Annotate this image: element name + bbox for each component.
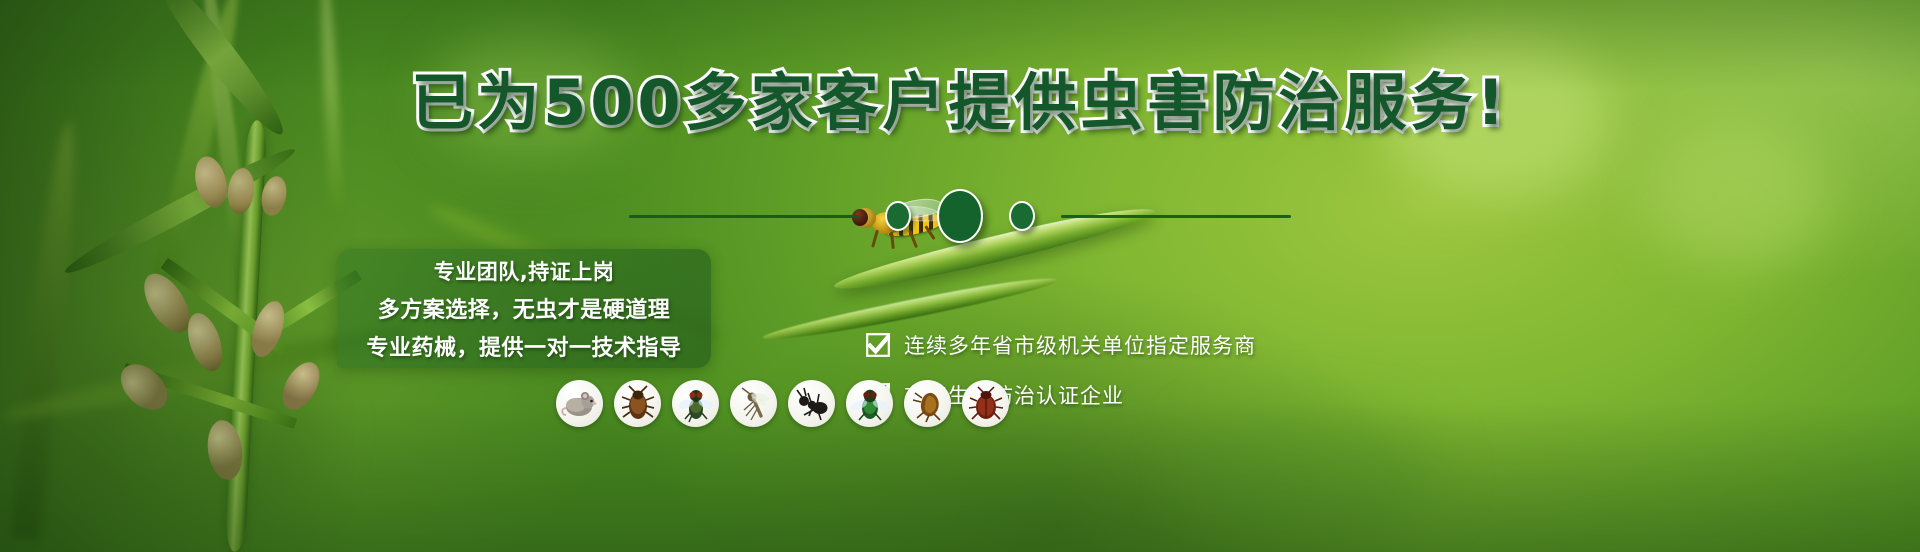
pest-icon-row: [556, 380, 1009, 427]
flea-icon[interactable]: [904, 380, 951, 427]
selling-point-line-2: 多方案选择，无虫才是硬道理: [378, 292, 671, 324]
divider-line-left: [629, 215, 859, 218]
bedbug-icon[interactable]: [962, 380, 1009, 427]
selling-point-line-3: 专业药械，提供一对一技术指导: [366, 330, 681, 362]
fly-icon[interactable]: [672, 380, 719, 427]
mosquito-icon[interactable]: [730, 380, 777, 427]
banner-headline: 已为500多家客户提供虫害防治服务!: [0, 72, 1920, 134]
divider-dot-large: [937, 189, 983, 243]
banner-headline-text: 已为500多家客户提供虫害防治服务!: [411, 66, 1509, 139]
selling-points-panel: 专业团队,持证上岗 多方案选择，无虫才是硬道理 专业药械，提供一对一技术指导: [337, 249, 711, 368]
rat-icon[interactable]: [556, 380, 603, 427]
headline-divider: [0, 196, 1920, 236]
ant-icon[interactable]: [788, 380, 835, 427]
blowfly-icon[interactable]: [846, 380, 893, 427]
divider-line-right: [1061, 215, 1291, 218]
selling-point-line-1: 专业团队,持证上岗: [434, 256, 614, 286]
pest-control-hero-banner: 已为500多家客户提供虫害防治服务! 专业团队,持证上岗 多方案选择，无虫才是硬…: [0, 0, 1920, 552]
checklist-item-label: 连续多年省市级机关单位指定服务商: [904, 330, 1256, 360]
checklist-item: 连续多年省市级机关单位指定服务商: [866, 330, 1256, 360]
checkbox-checked-icon: [866, 333, 890, 357]
cockroach-icon[interactable]: [614, 380, 661, 427]
divider-dot-small-left: [885, 201, 911, 231]
divider-dot-small-right: [1009, 201, 1035, 231]
